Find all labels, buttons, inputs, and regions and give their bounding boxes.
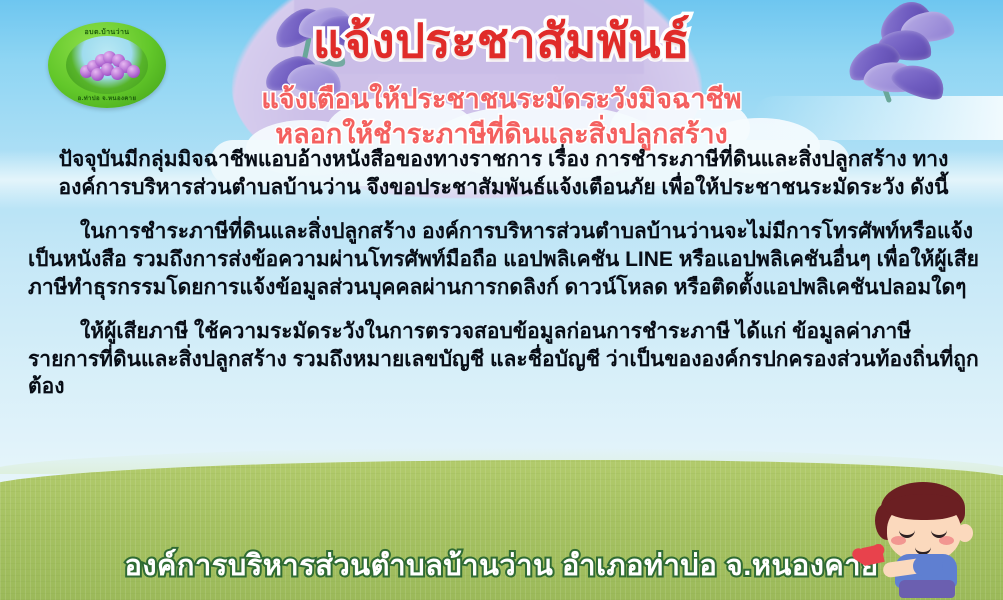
body-paragraph-1: ปัจจุบันมีกลุ่มมิจฉาชีพแอบอ้างหนังสือของ… <box>28 146 979 202</box>
poster-body: ปัจจุบันมีกลุ่มมิจฉาชีพแอบอ้างหนังสือของ… <box>28 146 979 417</box>
poster-title: แจ้งประชาสัมพันธ์ <box>0 16 1003 67</box>
announcement-poster: อบต.บ้านว่าน อ.ท่าบ่อ จ.หนองคาย แจ้งประช… <box>0 0 1003 600</box>
footer-organization-name: องค์การบริหารส่วนตำบลบ้านว่าน อำเภอท่าบ่… <box>0 542 1003 588</box>
body-paragraph-3: ให้ผู้เสียภาษี ใช้ความระมัดระวังในการตรว… <box>28 318 979 402</box>
body-paragraph-2: ในการชำระภาษีที่ดินและสิ่งปลูกสร้าง องค์… <box>28 218 979 302</box>
heart-icon <box>861 544 884 566</box>
subtitle-line-1: แจ้งเตือนให้ประชาชนระมัดระวังมิจฉาชีพ <box>0 82 1003 117</box>
poster-subtitle: แจ้งเตือนให้ประชาชนระมัดระวังมิจฉาชีพ หล… <box>0 82 1003 151</box>
cartoon-boy-mascot-icon <box>861 480 987 598</box>
